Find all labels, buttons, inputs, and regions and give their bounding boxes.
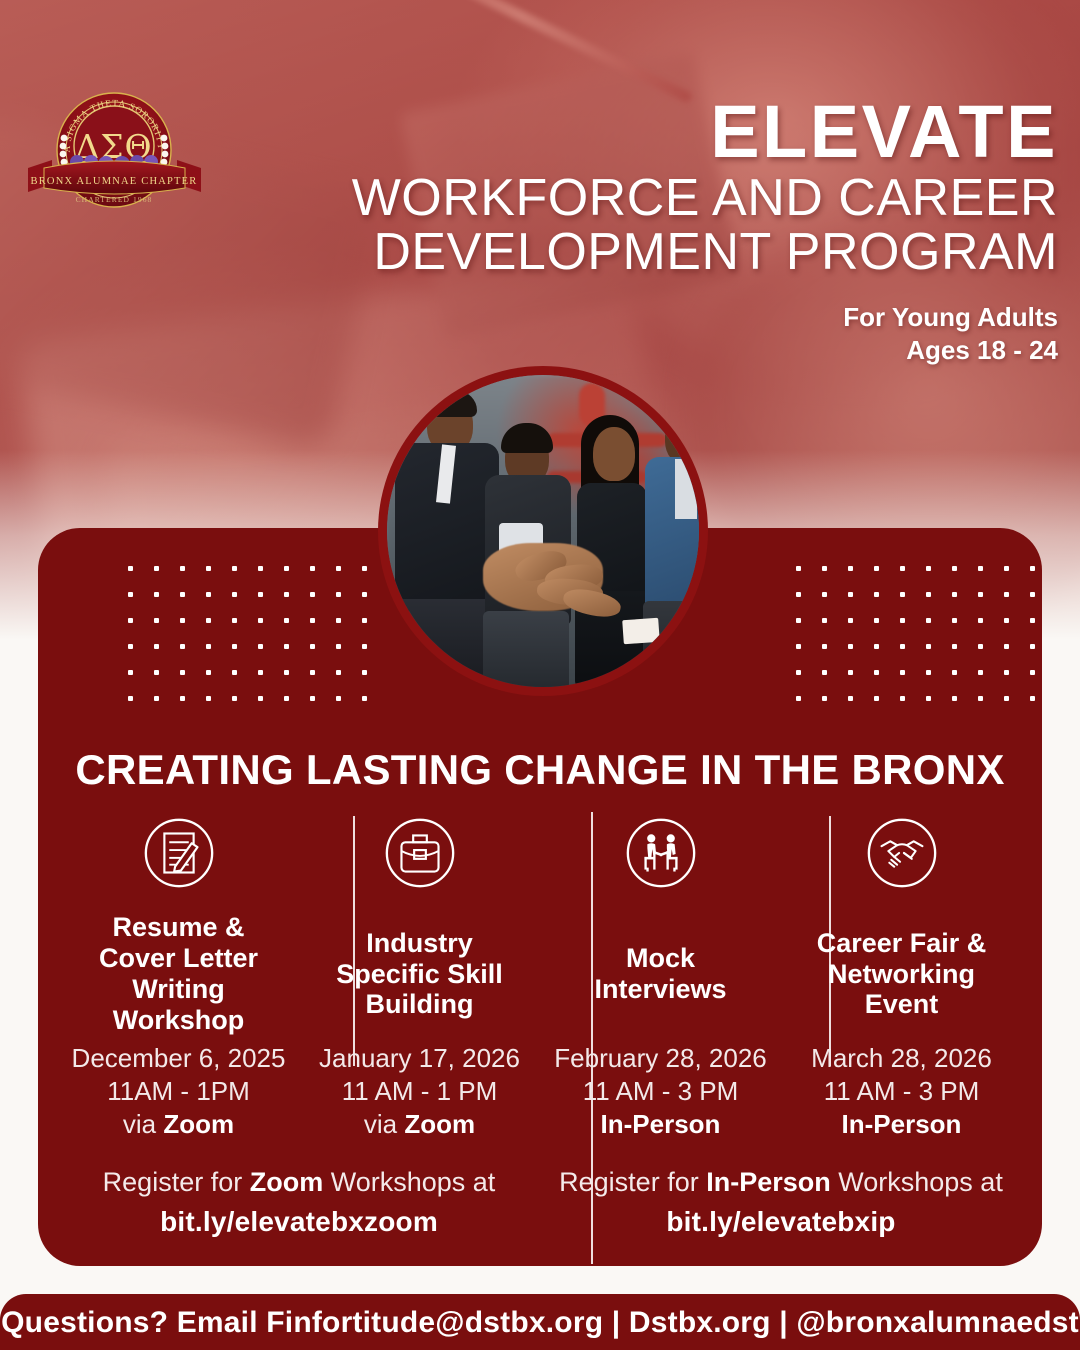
session-column: Industry Specific Skill Building January… (299, 810, 540, 1141)
registration-instruction: Register for Zoom Workshops at (58, 1164, 540, 1202)
session-title: Industry Specific Skill Building (305, 908, 534, 1040)
session-date: March 28, 2026 (787, 1042, 1016, 1075)
poster-header: ELEVATE WORKFORCE AND CAREER DEVELOPMENT… (298, 96, 1058, 368)
session-mode-value: In-Person (842, 1109, 962, 1139)
registration-suffix: Workshops at (323, 1167, 495, 1197)
registration-prefix: Register for (559, 1167, 706, 1197)
session-mode-prefix: via (364, 1109, 404, 1139)
session-title-line: Cover Letter (64, 943, 293, 974)
sorority-crest-logo: DELTA SIGMA THETA SORORITY, INC. ΔΣΘ (22, 88, 207, 223)
session-columns: Resume & Cover Letter Writing Workshop D… (58, 810, 1022, 1141)
registration-link-in-person[interactable]: bit.ly/elevatebxip (540, 1206, 1022, 1238)
session-title-line: Industry (305, 928, 534, 959)
registration-emphasis: Zoom (250, 1167, 324, 1197)
session-time: 11 AM - 1 PM (305, 1075, 534, 1108)
program-title: ELEVATE (298, 96, 1058, 167)
session-date: December 6, 2025 (64, 1042, 293, 1075)
session-mode: In-Person (787, 1108, 1016, 1142)
registration-suffix: Workshops at (831, 1167, 1003, 1197)
session-title: Mock Interviews (546, 908, 775, 1040)
session-title-line: Workshop (64, 1005, 293, 1036)
hero-photo-ring (378, 366, 708, 696)
session-title: Career Fair & Networking Event (787, 908, 1016, 1040)
interview-icon (546, 810, 775, 896)
registration-section: Register for Zoom Workshops at bit.ly/el… (58, 1164, 1022, 1238)
session-mode: via Zoom (305, 1108, 534, 1142)
session-title-line: Building (305, 989, 534, 1020)
session-column: Mock Interviews February 28, 2026 11 AM … (540, 810, 781, 1141)
session-title-line: Writing (64, 974, 293, 1005)
session-title-line: Interviews (546, 974, 775, 1005)
registration-zoom[interactable]: Register for Zoom Workshops at bit.ly/el… (58, 1164, 540, 1238)
session-time: 11 AM - 3 PM (787, 1075, 1016, 1108)
program-subtitle-line2: DEVELOPMENT PROGRAM (298, 225, 1058, 279)
session-title-line: Mock (546, 943, 775, 974)
poster-canvas: DELTA SIGMA THETA SORORITY, INC. ΔΣΘ (0, 0, 1080, 1350)
session-title-line: Resume & (64, 912, 293, 943)
session-time: 11 AM - 3 PM (546, 1075, 775, 1108)
session-mode-value: Zoom (163, 1109, 234, 1139)
audience-info: For Young Adults Ages 18 - 24 (298, 301, 1058, 368)
document-pencil-icon (64, 810, 293, 896)
session-mode-value: In-Person (601, 1109, 721, 1139)
program-subtitle: WORKFORCE AND CAREER DEVELOPMENT PROGRAM (298, 171, 1058, 279)
session-mode-value: Zoom (404, 1109, 475, 1139)
registration-link-zoom[interactable]: bit.ly/elevatebxzoom (58, 1206, 540, 1238)
session-mode-prefix: via (123, 1109, 163, 1139)
audience-line2: Ages 18 - 24 (298, 334, 1058, 367)
session-title: Resume & Cover Letter Writing Workshop (64, 908, 293, 1040)
dot-grid-right (796, 566, 1035, 701)
registration-instruction: Register for In-Person Workshops at (540, 1164, 1022, 1202)
session-column: Career Fair & Networking Event March 28,… (781, 810, 1022, 1141)
hero-patch (622, 618, 660, 644)
session-column: Resume & Cover Letter Writing Workshop D… (58, 810, 299, 1141)
handshake-icon (787, 810, 1016, 896)
footer-bar: Questions? Email Finfortitude@dstbx.org … (0, 1294, 1080, 1350)
dot-grid-left (128, 566, 367, 701)
registration-prefix: Register for (103, 1167, 250, 1197)
svg-text:CHARTERED 1968: CHARTERED 1968 (76, 195, 153, 204)
hero-photo (387, 375, 699, 687)
hero-person (643, 397, 699, 687)
session-mode: via Zoom (64, 1108, 293, 1142)
session-title-line: Networking (787, 959, 1016, 990)
session-date: January 17, 2026 (305, 1042, 534, 1075)
svg-text:BRONX ALUMNAE CHAPTER: BRONX ALUMNAE CHAPTER (31, 176, 198, 187)
session-title-line: Event (787, 989, 1016, 1020)
session-title-line: Specific Skill (305, 959, 534, 990)
session-time: 11AM - 1PM (64, 1075, 293, 1108)
registration-in-person[interactable]: Register for In-Person Workshops at bit.… (540, 1164, 1022, 1238)
session-date: February 28, 2026 (546, 1042, 775, 1075)
briefcase-icon (305, 810, 534, 896)
program-subtitle-line1: WORKFORCE AND CAREER (298, 171, 1058, 225)
session-title-line: Career Fair & (787, 928, 1016, 959)
registration-emphasis: In-Person (706, 1167, 831, 1197)
audience-line1: For Young Adults (298, 301, 1058, 334)
card-tagline: CREATING LASTING CHANGE IN THE BRONX (38, 746, 1042, 794)
session-mode: In-Person (546, 1108, 775, 1142)
footer-contact-text[interactable]: Questions? Email Finfortitude@dstbx.org … (1, 1306, 1079, 1340)
